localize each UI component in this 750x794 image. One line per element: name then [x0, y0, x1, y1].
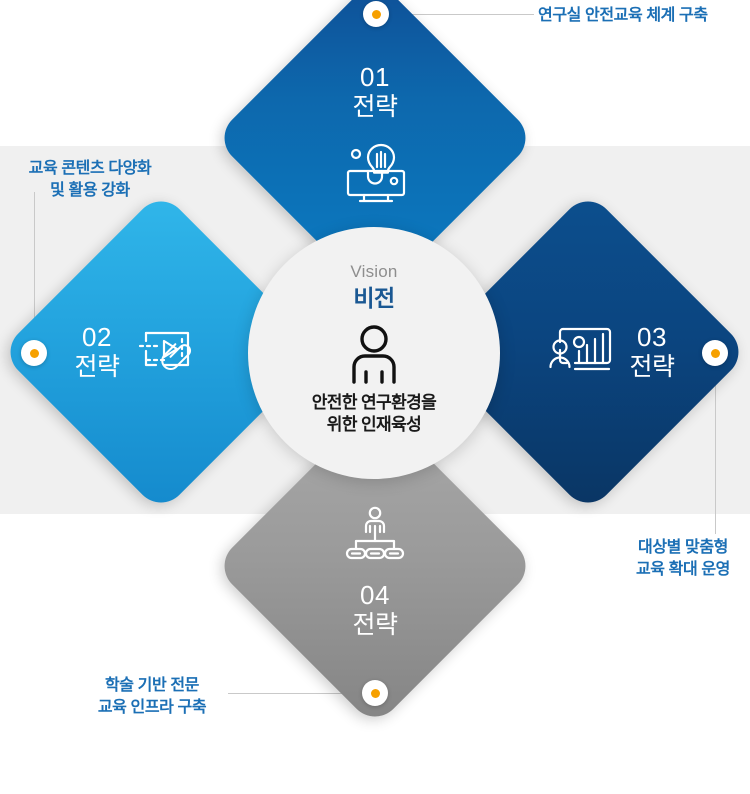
strategy-03-number-block: 03 전략: [629, 323, 674, 380]
strategy-card-03-content: 03 전략: [549, 323, 674, 381]
strategy-01-number: 01: [360, 63, 390, 92]
org-chart-icon: [344, 505, 406, 563]
strategy-card-04-content: 04 전략: [344, 505, 406, 638]
person-icon: [348, 324, 400, 386]
outer-label-strategy-02: 교육 콘텐츠 다양화 및 활용 강화: [14, 158, 166, 201]
connector-dot-top[interactable]: [363, 1, 389, 27]
strategy-01-number-block: 01 전략: [352, 63, 397, 120]
strategy-card-02-content: 02 전략: [74, 321, 199, 383]
vision-description: 안전한 연구환경을 위한 인재육성: [312, 392, 436, 436]
vision-strategy-diagram: 01 전략: [0, 0, 750, 720]
connector-line-right: [715, 366, 716, 534]
strategy-04-number: 04: [360, 581, 390, 610]
strategy-02-word: 전략: [74, 353, 119, 381]
strategy-04-number-block: 04 전략: [352, 581, 397, 638]
strategy-03-word: 전략: [629, 353, 674, 381]
outer-label-strategy-03: 대상별 맞춤형 교육 확대 운영: [620, 537, 746, 580]
media-play-paperclip-icon: [134, 321, 200, 383]
connector-dot-bottom[interactable]: [362, 680, 388, 706]
vision-circle[interactable]: Vision 비전 안전한 연구환경을 위한 인재육성: [248, 227, 500, 479]
strategy-02-number: 02: [82, 323, 112, 352]
vision-label-ko: 비전: [353, 285, 394, 313]
strategy-04-word: 전략: [352, 611, 397, 639]
person-barchart-icon: [549, 323, 615, 381]
connector-dot-right[interactable]: [702, 340, 728, 366]
vision-label-en: Vision: [350, 263, 397, 282]
strategy-01-word: 전략: [352, 93, 397, 121]
monitor-lightbulb-icon: [340, 141, 410, 205]
strategy-02-number-block: 02 전략: [74, 323, 119, 380]
connector-dot-left[interactable]: [21, 340, 47, 366]
strategy-03-number: 03: [637, 323, 667, 352]
strategy-card-01-content: 01 전략: [340, 63, 410, 204]
outer-label-strategy-01: 연구실 안전교육 체계 구축: [538, 5, 708, 27]
outer-label-strategy-04: 학술 기반 전문 교육 인프라 구축: [82, 675, 222, 718]
